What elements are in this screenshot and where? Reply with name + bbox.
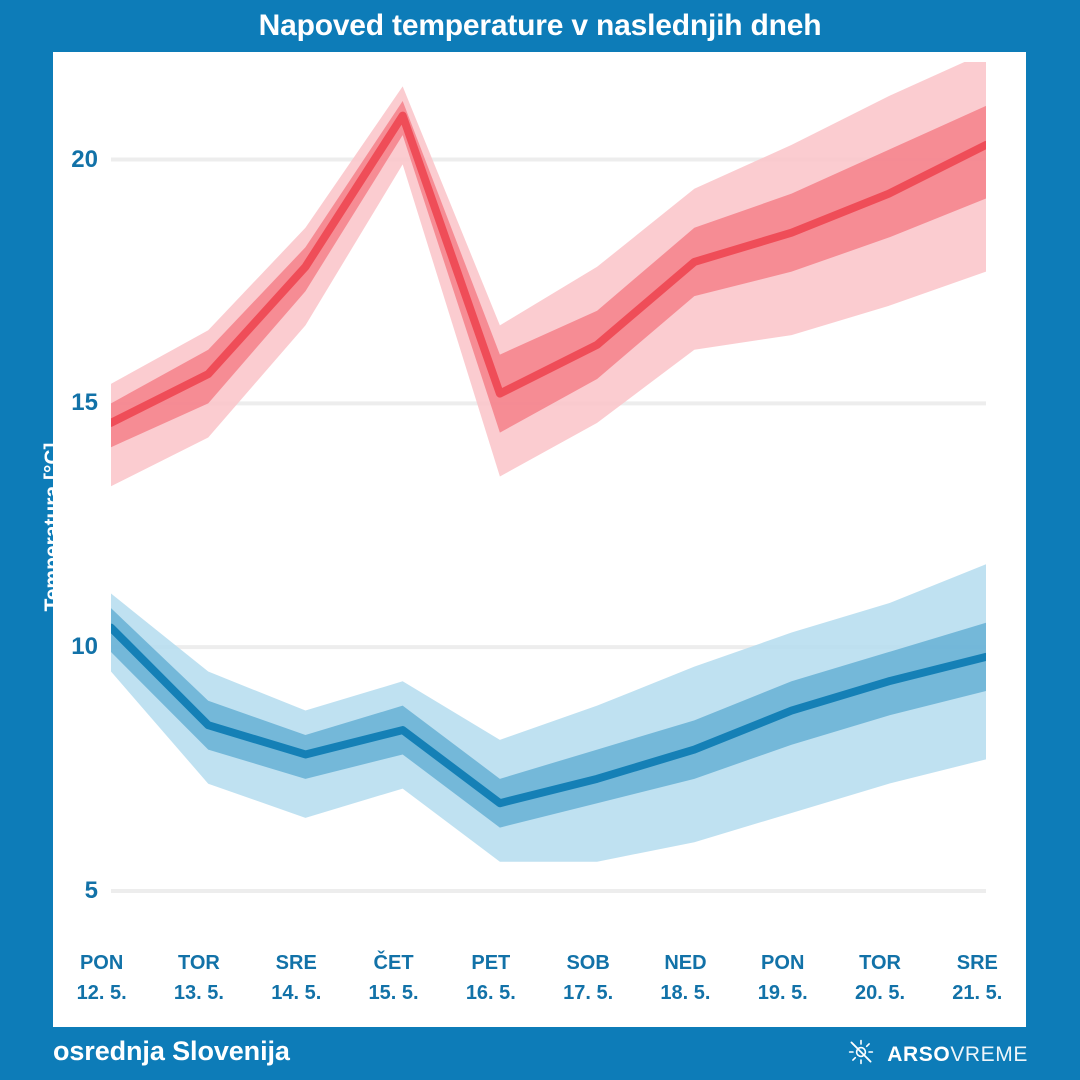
x-tick-3: ČET15. 5. [345, 948, 442, 1026]
y-tick-label-15: 15 [8, 391, 98, 415]
chart-plot-area [111, 62, 986, 930]
x-tick-8: TOR20. 5. [831, 948, 928, 1026]
x-tick-9: SRE21. 5. [929, 948, 1026, 1026]
x-tick-day: TOR [831, 948, 928, 978]
weather-forecast-screenshot: Napoved temperature v naslednjih dneh Te… [0, 0, 1080, 1080]
x-tick-day: PON [734, 948, 831, 978]
x-tick-date: 13. 5. [150, 978, 247, 1008]
footer-bar: osrednja Slovenija ARSOVREME [0, 1027, 1080, 1080]
brand-text: ARSOVREME [887, 1043, 1028, 1067]
x-tick-date: 16. 5. [442, 978, 539, 1008]
page-title: Napoved temperature v naslednjih dneh [0, 8, 1080, 44]
x-tick-day: SRE [248, 948, 345, 978]
x-tick-7: PON19. 5. [734, 948, 831, 1026]
x-tick-date: 15. 5. [345, 978, 442, 1008]
sun-rays-icon [848, 1039, 874, 1070]
x-tick-date: 14. 5. [248, 978, 345, 1008]
x-tick-date: 12. 5. [53, 978, 150, 1008]
x-tick-day: NED [637, 948, 734, 978]
y-axis-label: Temperatura [°C] [41, 397, 65, 657]
x-tick-date: 18. 5. [637, 978, 734, 1008]
x-tick-0: PON12. 5. [53, 948, 150, 1026]
x-tick-date: 20. 5. [831, 978, 928, 1008]
brand-logo: ARSOVREME [848, 1039, 1028, 1070]
x-tick-2: SRE14. 5. [248, 948, 345, 1026]
y-tick-label-10: 10 [8, 635, 98, 659]
x-tick-1: TOR13. 5. [150, 948, 247, 1026]
x-tick-day: PET [442, 948, 539, 978]
brand-name-light: VREME [950, 1043, 1028, 1066]
y-tick-label-5: 5 [8, 879, 98, 903]
brand-name-bold: ARSO [887, 1043, 950, 1066]
x-tick-date: 17. 5. [539, 978, 636, 1008]
x-tick-day: TOR [150, 948, 247, 978]
x-tick-date: 19. 5. [734, 978, 831, 1008]
temperature-chart-svg [111, 62, 986, 930]
y-tick-label-20: 20 [8, 148, 98, 172]
x-tick-5: SOB17. 5. [539, 948, 636, 1026]
x-tick-4: PET16. 5. [442, 948, 539, 1026]
x-tick-day: ČET [345, 948, 442, 978]
x-tick-6: NED18. 5. [637, 948, 734, 1026]
x-tick-day: SOB [539, 948, 636, 978]
region-label: osrednja Slovenija [53, 1036, 290, 1067]
x-tick-day: PON [53, 948, 150, 978]
x-tick-date: 21. 5. [929, 978, 1026, 1008]
max-outer-band [111, 62, 986, 486]
x-axis-ticks: PON12. 5.TOR13. 5.SRE14. 5.ČET15. 5.PET1… [53, 948, 1026, 1026]
x-tick-day: SRE [929, 948, 1026, 978]
